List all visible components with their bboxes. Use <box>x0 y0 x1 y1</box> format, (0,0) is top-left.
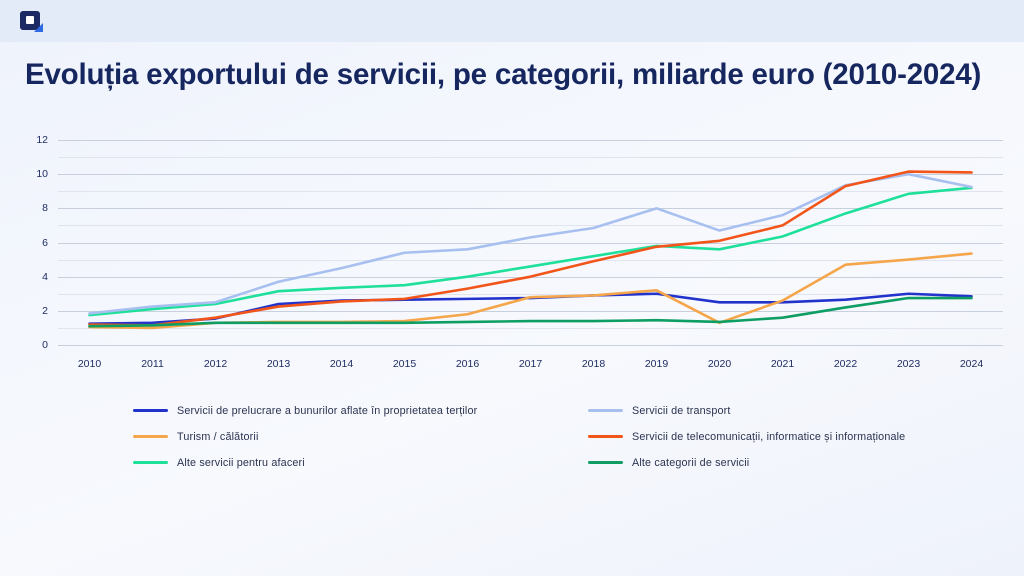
legend-swatch-icon <box>588 435 623 438</box>
y-axis-tick-10: 10 <box>36 168 48 180</box>
x-axis-tick-2013: 2013 <box>267 358 290 370</box>
legend-item-label: Servicii de prelucrare a bunurilor aflat… <box>177 405 477 417</box>
legend-item-label: Turism / călătorii <box>177 431 259 443</box>
x-axis-tick-2022: 2022 <box>834 358 857 370</box>
legend-item-label: Servicii de transport <box>632 405 731 417</box>
x-axis-tick-2012: 2012 <box>204 358 227 370</box>
legend-column-left: Servicii de prelucrare a bunurilor aflat… <box>133 400 477 478</box>
x-axis-tick-2016: 2016 <box>456 358 479 370</box>
x-axis-labels: 2010201120122013201420152016201720182019… <box>58 358 1003 378</box>
legend-item-left-0[interactable]: Servicii de prelucrare a bunurilor aflat… <box>133 400 477 421</box>
legend-item-label: Alte categorii de servicii <box>632 457 749 469</box>
legend-item-left-1[interactable]: Turism / călătorii <box>133 426 477 447</box>
x-axis-tick-2010: 2010 <box>78 358 101 370</box>
page-title: Evoluția exportului de servicii, pe cate… <box>25 58 981 92</box>
y-axis-tick-2: 2 <box>42 305 48 317</box>
logo-triangle <box>34 23 43 32</box>
legend-swatch-icon <box>588 461 623 464</box>
y-axis-tick-6: 6 <box>42 237 48 249</box>
y-axis-tick-4: 4 <box>42 271 48 283</box>
legend-item-label: Alte servicii pentru afaceri <box>177 457 305 469</box>
chart-legend: Servicii de prelucrare a bunurilor aflat… <box>0 400 1024 470</box>
legend-item-left-2[interactable]: Alte servicii pentru afaceri <box>133 452 477 473</box>
legend-swatch-icon <box>588 409 623 412</box>
series-line-3 <box>90 174 972 313</box>
x-axis-tick-2019: 2019 <box>645 358 668 370</box>
chart-container: 024681012 201020112012201320142015201620… <box>0 140 1024 390</box>
x-axis-tick-2018: 2018 <box>582 358 605 370</box>
y-axis-tick-8: 8 <box>42 202 48 214</box>
legend-item-right-2[interactable]: Alte categorii de servicii <box>588 452 905 473</box>
series-lines <box>58 140 1003 345</box>
x-axis-tick-2023: 2023 <box>897 358 920 370</box>
x-axis-tick-2011: 2011 <box>141 358 164 370</box>
legend-swatch-icon <box>133 435 168 438</box>
slide-root: Evoluția exportului de servicii, pe cate… <box>0 0 1024 576</box>
x-axis-tick-2020: 2020 <box>708 358 731 370</box>
app-logo-icon <box>20 11 44 33</box>
legend-item-right-0[interactable]: Servicii de transport <box>588 400 905 421</box>
x-axis-tick-2021: 2021 <box>771 358 794 370</box>
x-axis-tick-2015: 2015 <box>393 358 416 370</box>
top-bar <box>0 0 1024 42</box>
legend-swatch-icon <box>133 461 168 464</box>
gridline-0 <box>58 345 1003 346</box>
x-axis-tick-2024: 2024 <box>960 358 983 370</box>
legend-swatch-icon <box>133 409 168 412</box>
y-axis-tick-0: 0 <box>42 339 48 351</box>
y-axis-labels: 024681012 <box>0 140 58 355</box>
x-axis-tick-2014: 2014 <box>330 358 353 370</box>
x-axis-tick-2017: 2017 <box>519 358 542 370</box>
plot-area <box>58 140 1003 345</box>
legend-item-right-1[interactable]: Servicii de telecomunicații, informatice… <box>588 426 905 447</box>
logo-inner-square <box>26 16 34 24</box>
y-axis-tick-12: 12 <box>36 134 48 146</box>
legend-item-label: Servicii de telecomunicații, informatice… <box>632 431 905 443</box>
legend-column-right: Servicii de transportServicii de telecom… <box>588 400 905 478</box>
